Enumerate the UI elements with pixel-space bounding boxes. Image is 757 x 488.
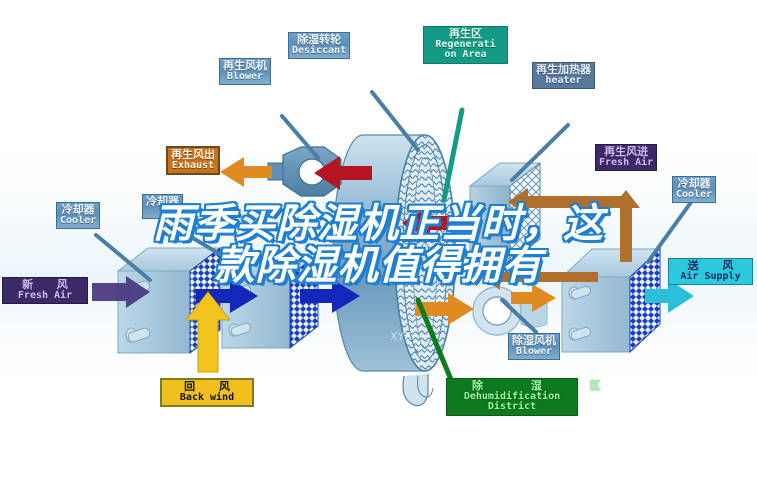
label-regen-blower-cn: 再生风机 — [223, 60, 267, 72]
label-regeneration-heater-en: heater — [536, 76, 591, 87]
label-regeneration-heater[interactable]: 再生加热器 heater — [532, 62, 595, 89]
label-regeneration-area-en2: on Area — [427, 50, 504, 61]
label-desiccant-rotor[interactable]: 除湿转轮 Desiccant — [288, 32, 350, 59]
label-back-wind[interactable]: 回 风 Back wind — [160, 378, 254, 407]
label-cooler-mid[interactable]: 冷却器 — [142, 194, 183, 219]
label-cooler-right-cn: 冷却器 — [676, 178, 712, 190]
label-air-supply-en: Air Supply — [672, 272, 749, 283]
label-regeneration-area[interactable]: 再生区 Regenerati on Area — [423, 26, 508, 64]
label-regen-blower-en: Blower — [223, 72, 267, 83]
label-cooler-right-en: Cooler — [676, 190, 712, 201]
label-dehum-district-en2: District — [450, 402, 574, 413]
label-fresh-air-inlet[interactable]: 新 风 Fresh Air — [2, 277, 88, 304]
label-dehum-blower[interactable]: 除湿风机 Blower — [508, 333, 560, 360]
label-regeneration-heater-cn: 再生加热器 — [536, 64, 591, 76]
label-regeneration-area-cn: 再生区 — [427, 28, 504, 40]
label-cooler-right[interactable]: 冷却器 Cooler — [672, 176, 716, 203]
label-fresh-air-regen[interactable]: 再生风进 Fresh Air — [595, 144, 657, 171]
label-desiccant-rotor-en: Desiccant — [292, 46, 346, 57]
schematic-canvas: XYZ 再生风机 Blower 除湿转轮 Desiccant 再生区 Regen… — [0, 0, 757, 488]
label-desiccant-rotor-cn: 除湿转轮 — [292, 34, 346, 46]
label-fresh-air-regen-cn: 再生风进 — [599, 146, 653, 158]
label-back-wind-en: Back wind — [165, 393, 249, 404]
label-air-supply-cn: 送 风 — [672, 260, 749, 272]
dehumidifier-diagram: XYZ — [0, 0, 757, 488]
label-dehum-blower-cn: 除湿风机 — [512, 335, 556, 347]
label-fresh-air-regen-en: Fresh Air — [599, 158, 653, 169]
label-exhaust[interactable]: 再生风出 Exhaust — [166, 146, 220, 175]
label-back-wind-cn: 回 风 — [165, 381, 249, 393]
label-exhaust-en: Exhaust — [171, 161, 215, 172]
label-air-supply[interactable]: 送 风 Air Supply — [668, 258, 753, 285]
label-regen-blower[interactable]: 再生风机 Blower — [219, 58, 271, 85]
label-dehumidification-district[interactable]: 除 湿 区 Dehumidification District — [446, 378, 578, 416]
label-exhaust-cn: 再生风出 — [171, 149, 215, 161]
label-cooler-left[interactable]: 冷却器 Cooler — [56, 202, 100, 229]
watermark-text: XYZ — [390, 330, 412, 343]
label-cooler-left-cn: 冷却器 — [60, 204, 96, 216]
label-fresh-air-inlet-en: Fresh Air — [6, 291, 84, 302]
label-cooler-left-en: Cooler — [60, 216, 96, 227]
label-fresh-air-inlet-cn: 新 风 — [6, 279, 84, 291]
label-cooler-mid-cn: 冷却器 — [146, 196, 179, 208]
label-dehum-district-cn: 除 湿 区 — [450, 380, 574, 392]
label-dehum-blower-en: Blower — [512, 347, 556, 358]
